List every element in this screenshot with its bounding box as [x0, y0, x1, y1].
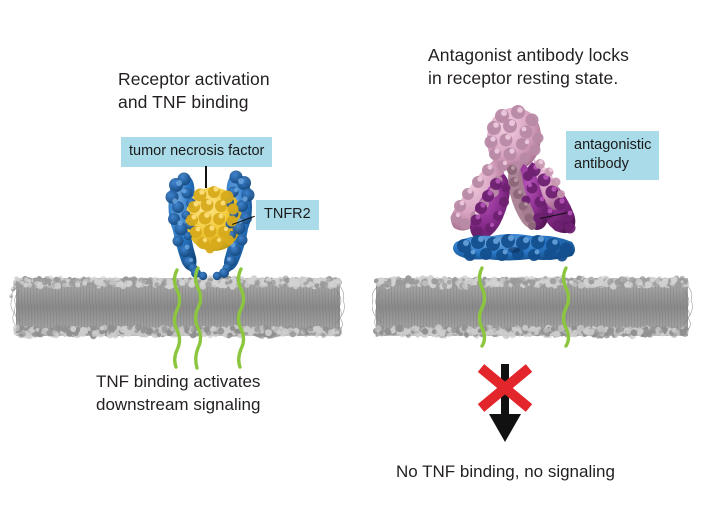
panel-right-caption: No TNF binding, no signaling [396, 460, 615, 483]
transmembrane-helix-icon [470, 266, 600, 358]
signaling-chains-right [470, 266, 600, 358]
antibody-receptor-complex-icon [448, 104, 590, 276]
blocked-signal-indicator [462, 362, 548, 446]
panel-left-title: Receptor activation and TNF binding [118, 68, 270, 114]
callout-antagonistic-antibody: antagonistic antibody [566, 131, 659, 180]
panel-right-title: Antagonist antibody locks in receptor re… [428, 44, 629, 90]
signaling-chains-left [160, 264, 280, 372]
transmembrane-helix-icon [160, 264, 280, 372]
panel-left-caption: TNF binding activates downstream signali… [96, 370, 260, 416]
figure-canvas: Receptor activation and TNF binding Anta… [0, 0, 704, 528]
red-x-over-down-arrow-icon [462, 362, 548, 446]
callout-tnfr2: TNFR2 [256, 200, 319, 230]
antibody-receptor-complex [448, 104, 590, 276]
leader-line-tnf [205, 166, 207, 188]
callout-tumor-necrosis-factor: tumor necrosis factor [121, 137, 272, 167]
